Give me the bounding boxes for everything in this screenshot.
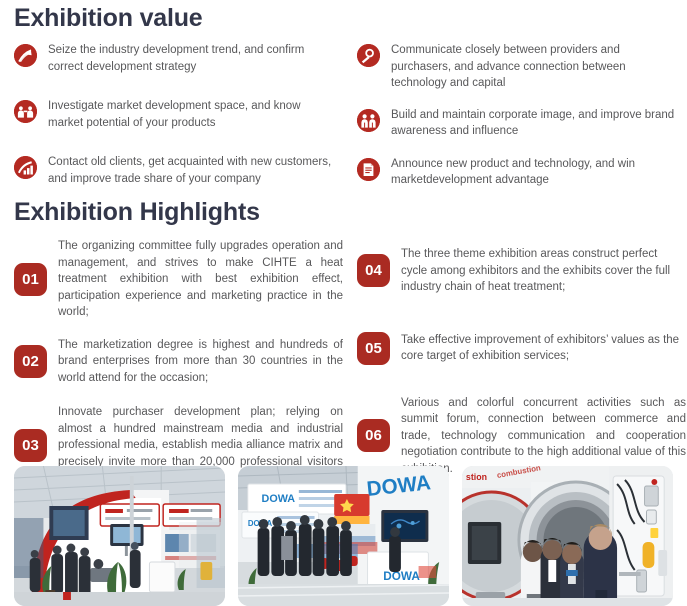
market-people-icon bbox=[14, 100, 37, 123]
two-people-icon bbox=[357, 109, 380, 132]
highlight-item: 06 Various and colorful concurrent activ… bbox=[343, 395, 686, 478]
highlight-item: 04 The three theme exhibition areas cons… bbox=[343, 246, 686, 296]
page-title-exhibition-value: Exhibition value bbox=[14, 6, 203, 31]
document-icon bbox=[357, 158, 380, 181]
highlight-badge-06: 06 bbox=[357, 419, 390, 452]
value-item-text: Build and maintain corporate image, and … bbox=[391, 107, 681, 140]
highlight-badge-05: 05 bbox=[357, 332, 390, 365]
highlight-item: 02 The marketization degree is highest a… bbox=[0, 337, 343, 387]
photo-strip: DOWA DOWA DOWA DOWA bbox=[0, 466, 687, 606]
svg-text:stion: stion bbox=[466, 472, 487, 482]
svg-text:DOWA: DOWA bbox=[383, 569, 420, 583]
exhibition-value-left-column: Seize the industry development trend, an… bbox=[0, 40, 343, 189]
highlight-item-text: The three theme exhibition areas constru… bbox=[401, 246, 686, 296]
value-item: Announce new product and technology, and… bbox=[343, 156, 686, 189]
value-item: Contact old clients, get acquainted with… bbox=[0, 154, 343, 187]
bar-chart-growth-icon bbox=[14, 156, 37, 179]
value-item-text: Seize the industry development trend, an… bbox=[48, 42, 338, 75]
magnifier-icon bbox=[357, 44, 380, 67]
value-item-text: Investigate market development space, an… bbox=[48, 98, 338, 131]
highlight-item-text: The organizing committee fully upgrades … bbox=[58, 238, 343, 321]
highlight-item-text: The marketization degree is highest and … bbox=[58, 337, 343, 387]
value-item-text: Contact old clients, get acquainted with… bbox=[48, 154, 338, 187]
value-item: Build and maintain corporate image, and … bbox=[343, 107, 686, 140]
highlight-badge-04: 04 bbox=[357, 254, 390, 287]
highlight-badge-01: 01 bbox=[14, 263, 47, 296]
page-title-exhibition-highlights: Exhibition Highlights bbox=[14, 200, 260, 225]
exhibition-value-columns: Seize the industry development trend, an… bbox=[0, 40, 687, 189]
highlight-badge-03: 03 bbox=[14, 429, 47, 462]
exhibition-highlights-right-column: 04 The three theme exhibition areas cons… bbox=[343, 238, 686, 487]
highlight-item: 01 The organizing committee fully upgrad… bbox=[0, 238, 343, 321]
value-item: Seize the industry development trend, an… bbox=[0, 42, 343, 75]
highlight-badge-02: 02 bbox=[14, 345, 47, 378]
value-item: Communicate closely between providers an… bbox=[343, 42, 686, 92]
value-item: Investigate market development space, an… bbox=[0, 98, 343, 131]
exhibition-highlights-columns: 01 The organizing committee fully upgrad… bbox=[0, 238, 687, 487]
vacuum-furnace-demo-photo: stion combustion bbox=[462, 466, 673, 606]
arrow-up-right-icon bbox=[14, 44, 37, 67]
value-item-text: Announce new product and technology, and… bbox=[391, 156, 681, 189]
highlight-item: 05 Take effective improvement of exhibit… bbox=[343, 332, 686, 365]
svg-text:DOWA: DOWA bbox=[262, 493, 296, 505]
highlight-item-text: Various and colorful concurrent activiti… bbox=[401, 395, 686, 478]
exhibition-highlights-left-column: 01 The organizing committee fully upgrad… bbox=[0, 238, 343, 487]
exhibition-booth-photo bbox=[14, 466, 225, 606]
exhibition-value-right-column: Communicate closely between providers an… bbox=[343, 40, 686, 189]
value-item-text: Communicate closely between providers an… bbox=[391, 42, 681, 92]
highlight-item-text: Take effective improvement of exhibitors… bbox=[401, 332, 686, 365]
dowa-booth-photo: DOWA DOWA DOWA DOWA bbox=[238, 466, 449, 606]
